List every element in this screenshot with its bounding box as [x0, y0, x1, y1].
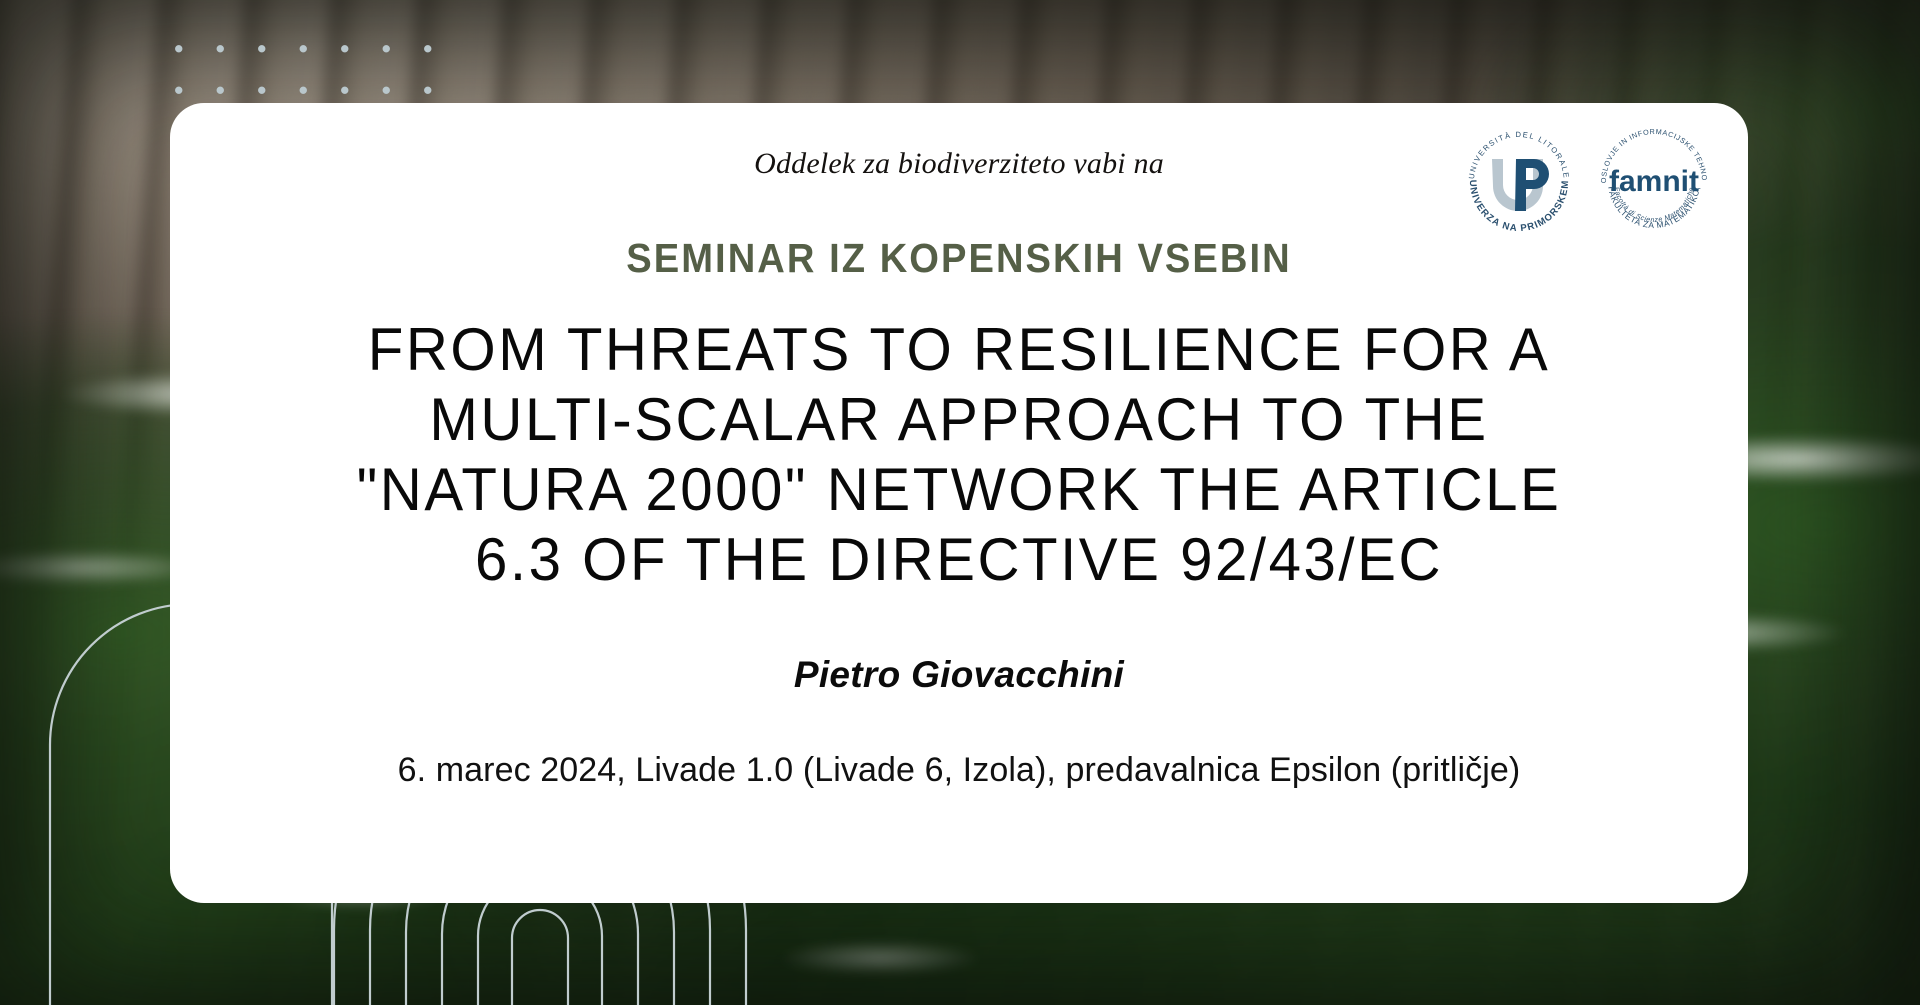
title-line: MULTI-SCALAR APPROACH TO THE [211, 385, 1707, 455]
university-of-primorska-logo: UNIVERSITÀ DEL LITORALE UNIVERZA NA PRIM… [1456, 119, 1582, 250]
title-line: FROM THREATS TO RESILIENCE FOR A [211, 315, 1707, 385]
invite-line: Oddelek za biodiverziteto vabi na [170, 147, 1748, 181]
speaker-name: Pietro Giovacchini [170, 654, 1748, 696]
logo-group: UNIVERSITÀ DEL LITORALE UNIVERZA NA PRIM… [1456, 119, 1720, 250]
title-line: "NATURA 2000" NETWORK THE ARTICLE [211, 455, 1707, 525]
famnit-logo: NARAVOSLOVJE IN INFORMACIJSKE TEHNOLOGIJ… [1588, 119, 1720, 250]
page-title: FROM THREATS TO RESILIENCE FOR A MULTI-S… [211, 315, 1707, 595]
poster-card: UNIVERSITÀ DEL LITORALE UNIVERZA NA PRIM… [170, 103, 1748, 903]
title-line: 6.3 OF THE DIRECTIVE 92/43/EC [211, 525, 1707, 595]
event-details: 6. marec 2024, Livade 1.0 (Livade 6, Izo… [170, 751, 1748, 790]
series-heading: SEMINAR IZ KOPENSKIH VSEBIN [225, 235, 1693, 282]
